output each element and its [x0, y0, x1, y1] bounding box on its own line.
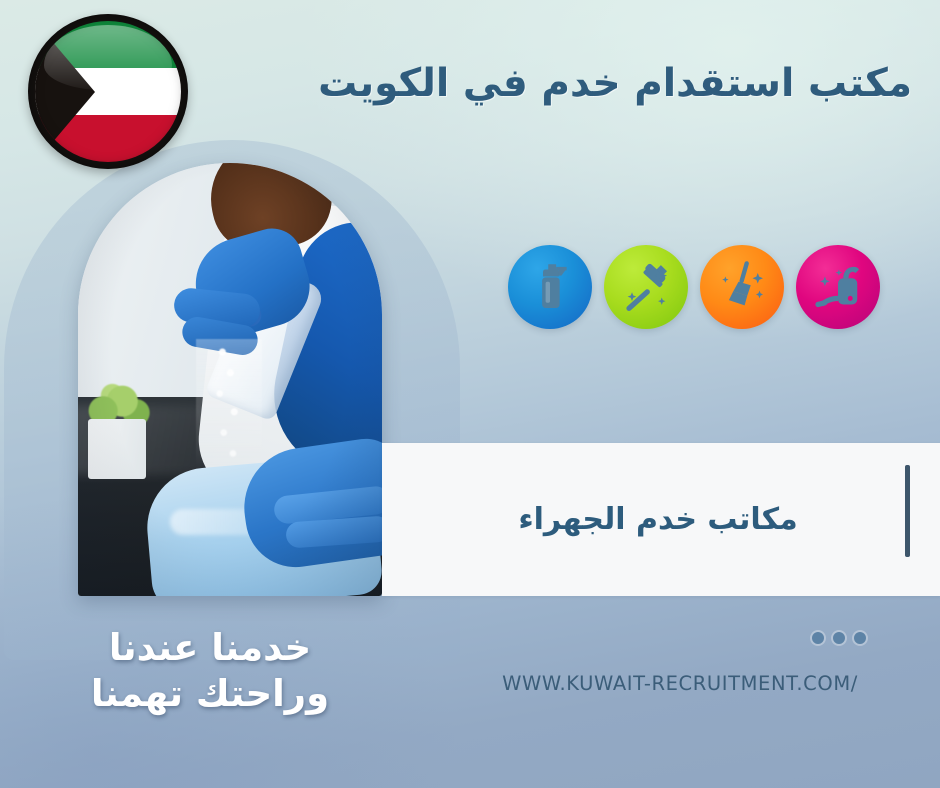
slogan: خدمنا عندنا وراحتك تهمنا [20, 625, 400, 717]
decorative-dots [812, 632, 866, 644]
flag-inner [35, 21, 181, 162]
service-icons-row [508, 245, 880, 329]
photo-spray-mist [196, 339, 262, 469]
spray-bottle-icon [522, 259, 578, 315]
flag-black-hoist [35, 21, 95, 162]
dot-2 [833, 632, 845, 644]
broom-icon [714, 259, 770, 315]
cleaning-photo [78, 163, 382, 596]
page-title: مكتب استقدام خدم في الكويت [212, 62, 912, 107]
slogan-line-2: وراحتك تهمنا [20, 671, 400, 717]
mid-panel: مكاتب خدم الجهراء [382, 443, 940, 596]
broom-icon-circle [700, 245, 784, 329]
dot-3 [854, 632, 866, 644]
vacuum-cleaner-icon [810, 259, 866, 315]
squeegee-icon-circle [604, 245, 688, 329]
website-url[interactable]: WWW.KUWAIT-RECRUITMENT.COM/ [440, 672, 920, 695]
mid-panel-accent-bar [905, 465, 910, 557]
mid-panel-title: مكاتب خدم الجهراء [422, 443, 894, 596]
photo-plant-pot [88, 419, 146, 479]
vacuum-cleaner-icon-circle [796, 245, 880, 329]
spray-bottle-icon-circle [508, 245, 592, 329]
poster-canvas: مكتب استقدام خدم في الكويت [0, 0, 940, 788]
slogan-line-1: خدمنا عندنا [20, 625, 400, 671]
squeegee-icon [618, 259, 674, 315]
kuwait-flag-badge [28, 14, 188, 169]
photo-scene [78, 163, 382, 596]
dot-1 [812, 632, 824, 644]
